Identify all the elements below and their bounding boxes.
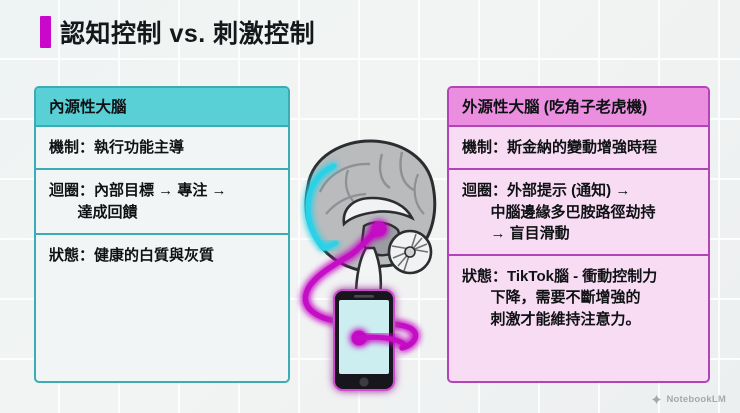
exogenous-row-state: 狀態：TikTok腦 - 衝動控制力 下降，需要不斷增強的 刺激才能維持注意力。 xyxy=(449,256,708,340)
row-text-cont: 達成回饋 xyxy=(49,202,278,223)
endogenous-brain-panel: 內源性大腦 機制：執行功能主導 迴圈：內部目標 → 專注 → 達成回饋 狀態：健… xyxy=(34,86,290,383)
row-text: 狀態：TikTok腦 - 衝動控制力 xyxy=(462,268,657,285)
exogenous-brain-panel: 外源性大腦 (吃角子老虎機) 機制：斯金納的變動增強時程 迴圈：外部提示 (通知… xyxy=(447,86,710,383)
brain-phone-diagram xyxy=(286,130,452,400)
row-text-cont: 中腦邊緣多巴胺路徑劫持 xyxy=(462,202,698,223)
slide-canvas: 認知控制 vs. 刺激控制 內源性大腦 機制：執行功能主導 迴圈：內部目標 → … xyxy=(0,0,740,413)
exogenous-row-mechanism: 機制：斯金納的變動增強時程 xyxy=(449,127,708,170)
row-text-cont2: → 盲目滑動 xyxy=(462,223,698,244)
title-text: 認知控制 vs. 刺激控制 xyxy=(60,14,315,50)
exogenous-row-loop: 迴圈：外部提示 (通知) → 中腦邊緣多巴胺路徑劫持 → 盲目滑動 xyxy=(449,170,708,256)
endogenous-row-state: 狀態：健康的白質與灰質 xyxy=(36,235,288,276)
row-text: 迴圈：內部目標 → 專注 → xyxy=(49,182,227,199)
row-text: 機制：執行功能主導 xyxy=(49,139,184,156)
endogenous-row-mechanism: 機制：執行功能主導 xyxy=(36,127,288,170)
watermark-label: NotebookLM xyxy=(666,394,726,405)
notebooklm-logo-icon xyxy=(651,394,662,405)
row-text: 狀態：健康的白質與灰質 xyxy=(49,247,214,264)
page-title: 認知控制 vs. 刺激控制 xyxy=(40,14,315,50)
vta-node-icon xyxy=(372,222,387,237)
row-text: 機制：斯金納的變動增強時程 xyxy=(462,139,657,156)
row-text-cont2: 刺激才能維持注意力。 xyxy=(462,309,698,330)
endogenous-panel-header: 內源性大腦 xyxy=(36,88,288,127)
row-text-cont: 下降，需要不斷增強的 xyxy=(462,287,698,308)
title-accent-bar xyxy=(40,16,51,48)
endogenous-row-loop: 迴圈：內部目標 → 專注 → 達成回饋 xyxy=(36,170,288,235)
notebooklm-watermark: NotebookLM xyxy=(651,394,726,405)
exogenous-panel-header: 外源性大腦 (吃角子老虎機) xyxy=(449,88,708,127)
row-text: 迴圈：外部提示 (通知) → xyxy=(462,182,630,199)
